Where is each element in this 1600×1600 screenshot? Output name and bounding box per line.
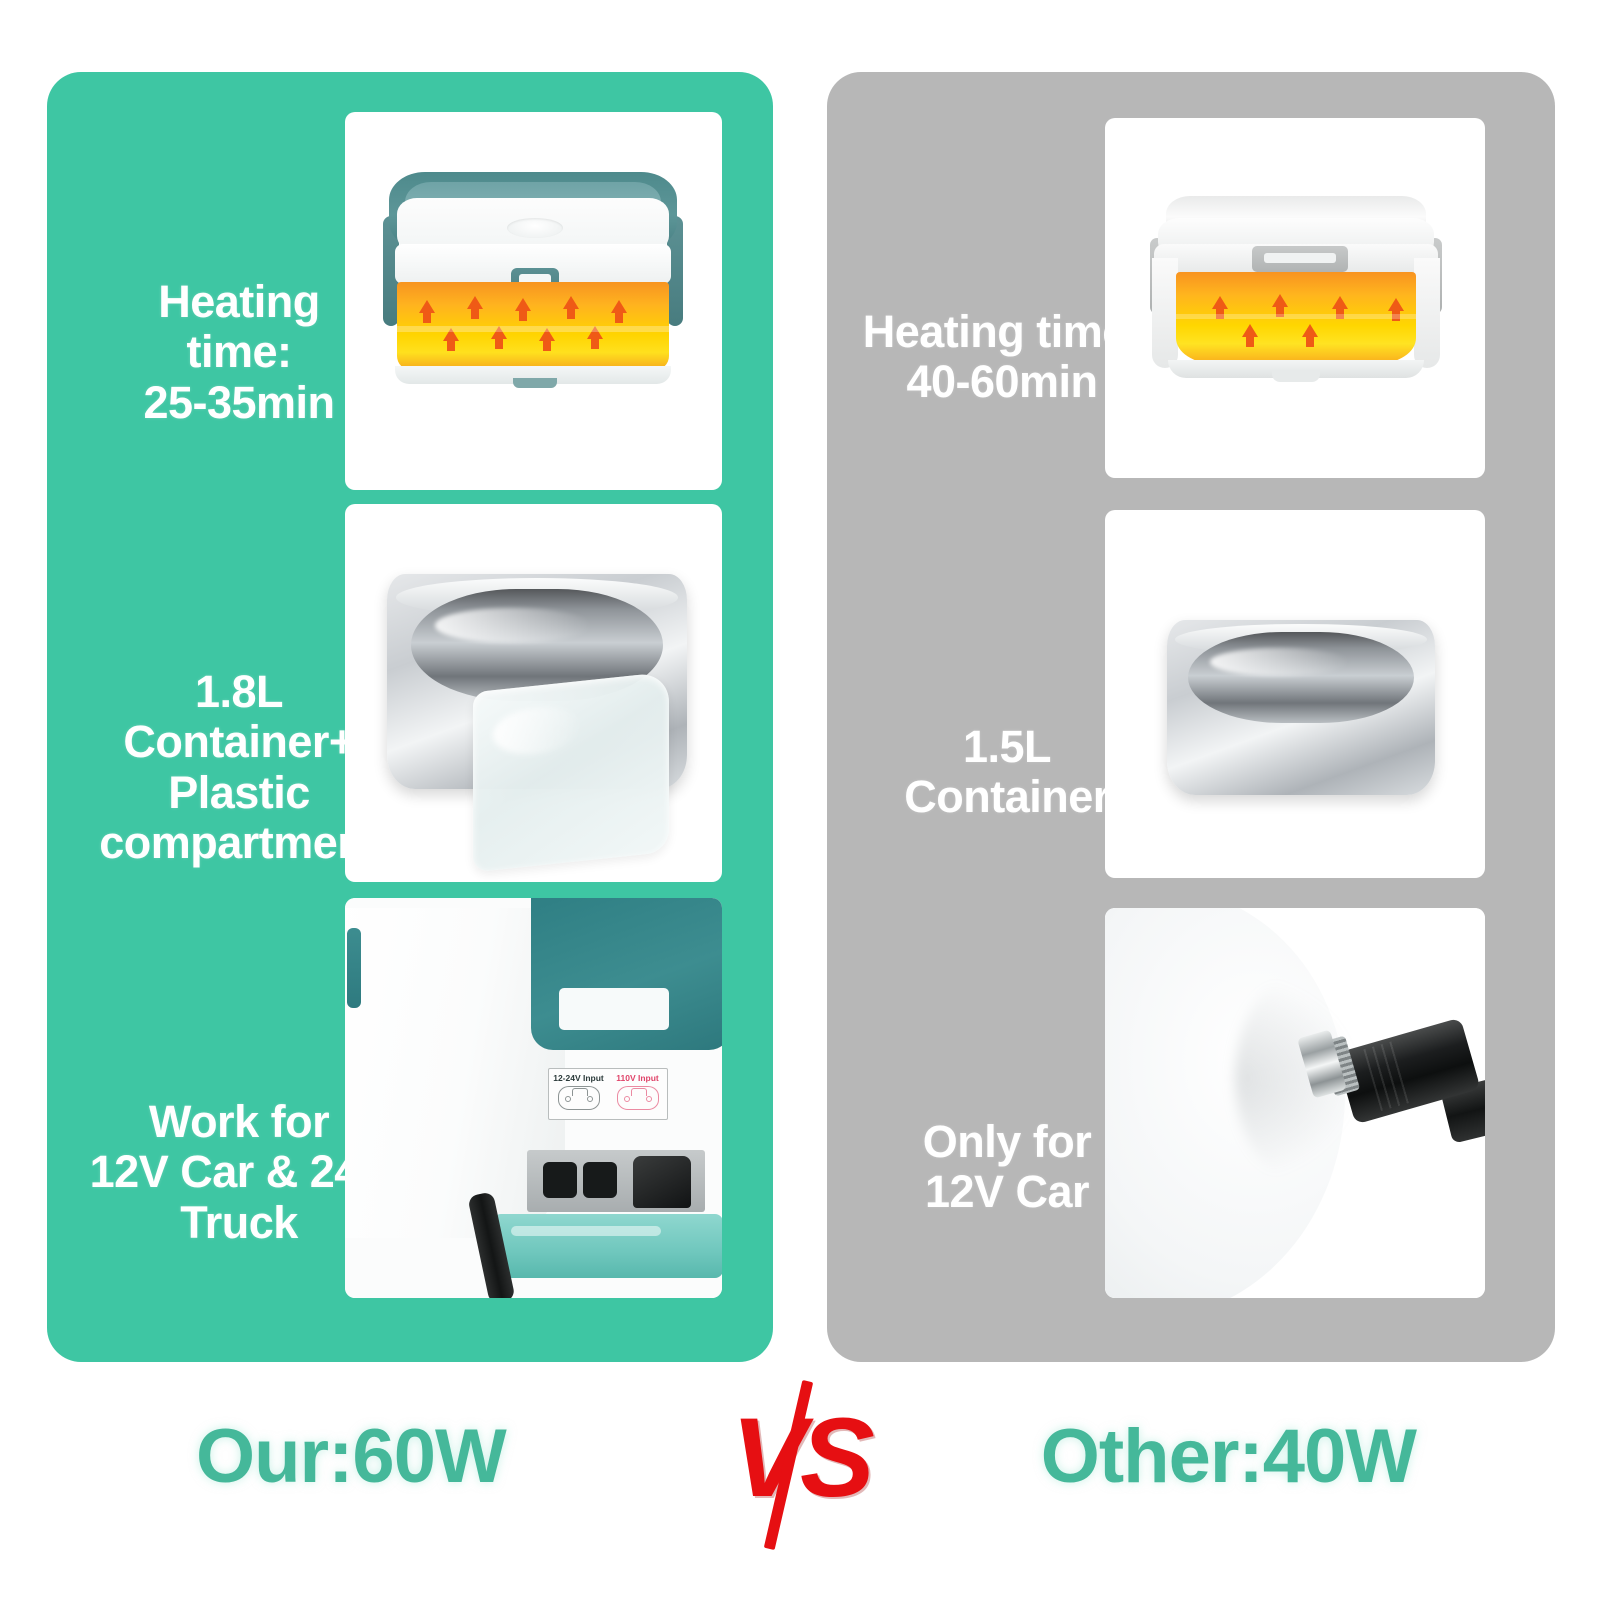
input-110v: 110V Input	[608, 1069, 667, 1119]
heated-lunch-box-grey-icon	[1150, 196, 1442, 394]
teal-tray	[493, 1214, 722, 1278]
plastic-compartment-icon	[473, 672, 669, 873]
ours-row3-image-card: 12-24V Input 110V Input	[345, 898, 722, 1298]
input-110v-text: 110V Input	[608, 1073, 667, 1083]
footer-power-comparison: Our:60W VS Other:40W	[0, 1395, 1600, 1545]
steel-container-plain-icon	[1167, 620, 1435, 795]
ours-row2-image-card	[345, 504, 722, 882]
dc-barrel-plug-icon	[1105, 908, 1485, 1298]
other-row3-image-card	[1105, 908, 1485, 1298]
heated-lunch-box-teal-icon	[383, 172, 683, 397]
ours-power-label: Our:60W	[196, 1413, 506, 1500]
ours-row1-label: Heating time: 25-35min	[89, 277, 389, 428]
vs-badge: VS	[705, 1385, 895, 1560]
dual-voltage-ports-icon: 12-24V Input 110V Input	[345, 898, 722, 1298]
other-row1-image-card	[1105, 118, 1485, 478]
input-12-24v: 12-24V Input	[549, 1069, 608, 1119]
socket-plate	[527, 1150, 705, 1212]
input-12-24v-text: 12-24V Input	[549, 1073, 608, 1083]
ours-row1-image-card	[345, 112, 722, 490]
socket-12-24v-icon	[558, 1086, 600, 1110]
ours-row2-label: 1.8L Container+ Plastic compartment	[89, 667, 389, 869]
voltage-input-label: 12-24V Input 110V Input	[548, 1068, 668, 1120]
socket-110v-icon	[617, 1086, 659, 1110]
ours-row3-label: Work for 12V Car & 24V Truck	[89, 1097, 389, 1248]
other-row2-image-card	[1105, 510, 1485, 878]
other-power-label: Other:40W	[1041, 1413, 1416, 1500]
comparison-infographic: Heating time: 25-35min 1.8L Container+ P…	[0, 0, 1600, 1600]
power-plug-icon	[633, 1156, 691, 1208]
